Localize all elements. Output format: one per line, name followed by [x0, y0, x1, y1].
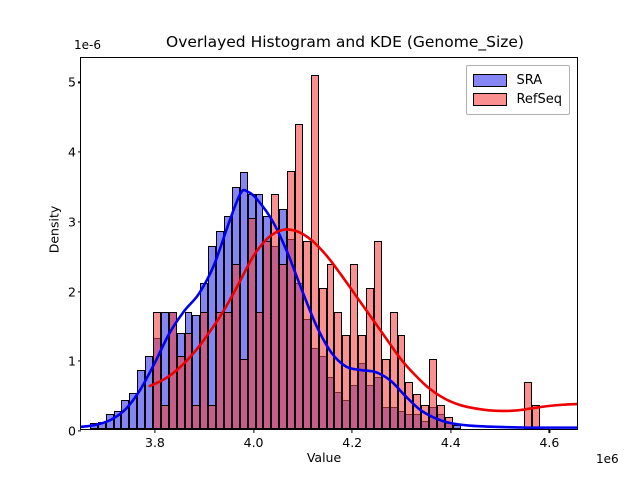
y-tick-mark — [78, 221, 82, 222]
plot-area: 012345 3.84.04.24.44.6 SRA RefSeq — [80, 57, 578, 430]
x-tick-label: 4.2 — [342, 435, 362, 450]
y-tick-mark — [78, 82, 82, 83]
chart-title-text: Overlayed Histogram and KDE (Genome_Size… — [116, 33, 524, 51]
kde-curve-sra — [81, 190, 577, 428]
y-tick-label: 1 — [68, 354, 76, 369]
y-tick-mark — [78, 291, 82, 292]
x-tick-mark — [352, 429, 353, 433]
x-tick-mark — [549, 429, 550, 433]
x-tick-mark — [154, 429, 155, 433]
y-axis-offset-label: 1e-6 — [74, 38, 101, 52]
figure: Overlayed Histogram and KDE (Genome_Size… — [0, 0, 640, 480]
x-tick-label: 4.0 — [244, 435, 264, 450]
legend[interactable]: SRA RefSeq — [466, 65, 570, 115]
kde-curve-refseq — [150, 229, 577, 411]
y-axis-label: Density — [47, 170, 62, 290]
y-tick-label: 2 — [68, 284, 76, 299]
legend-label-sra: SRA — [516, 73, 542, 88]
legend-swatch-refseq — [473, 93, 507, 106]
legend-label-refseq: RefSeq — [516, 92, 562, 107]
x-tick-mark — [253, 429, 254, 433]
x-tick-label: 4.6 — [539, 435, 559, 450]
y-tick-mark — [78, 152, 82, 153]
x-axis-label-text: Value — [299, 450, 341, 465]
y-tick-mark — [78, 430, 82, 431]
y-tick-mark — [78, 361, 82, 362]
y-tick-label: 3 — [68, 214, 76, 229]
y-tick-label: 5 — [68, 75, 76, 90]
legend-item-sra[interactable]: SRA — [473, 71, 562, 90]
x-tick-label: 3.8 — [145, 435, 165, 450]
x-axis-label: Value — [0, 450, 640, 465]
legend-item-refseq[interactable]: RefSeq — [473, 90, 562, 109]
x-tick-label: 4.4 — [441, 435, 461, 450]
legend-swatch-sra — [473, 74, 507, 87]
y-tick-label: 4 — [68, 145, 76, 160]
x-tick-mark — [450, 429, 451, 433]
y-tick-label: 0 — [68, 424, 76, 439]
